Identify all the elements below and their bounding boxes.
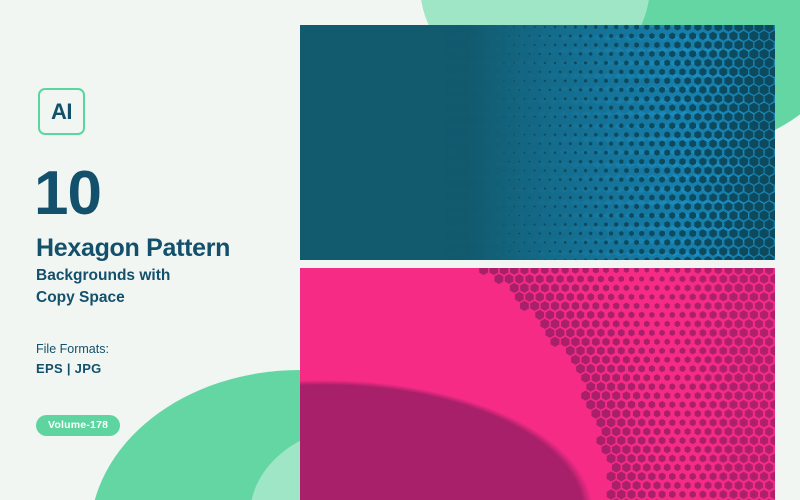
page-title: Hexagon Pattern [36, 234, 230, 262]
info-panel: AI 10 Hexagon Pattern Backgrounds with C… [0, 0, 300, 500]
hexagon-preview-teal[interactable] [300, 25, 775, 260]
file-formats-label: File Formats: [36, 342, 109, 356]
badge-label: AI [51, 99, 72, 125]
hexagon-preview-pink[interactable] [300, 268, 775, 500]
poster-canvas: AI 10 Hexagon Pattern Backgrounds with C… [0, 0, 800, 500]
hexagon-halftone-teal-graphic [300, 25, 775, 260]
page-subtitle-line-1: Backgrounds with [36, 265, 266, 287]
volume-badge: Volume-178 [36, 415, 120, 436]
file-formats-value: EPS | JPG [36, 361, 102, 376]
item-count: 10 [34, 163, 101, 225]
hexagon-halftone-pink-graphic [300, 268, 775, 500]
page-subtitle-line-2: Copy Space [36, 287, 266, 309]
adobe-illustrator-badge-icon: AI [38, 88, 85, 135]
page-subtitle: Backgrounds with Copy Space [36, 265, 266, 309]
